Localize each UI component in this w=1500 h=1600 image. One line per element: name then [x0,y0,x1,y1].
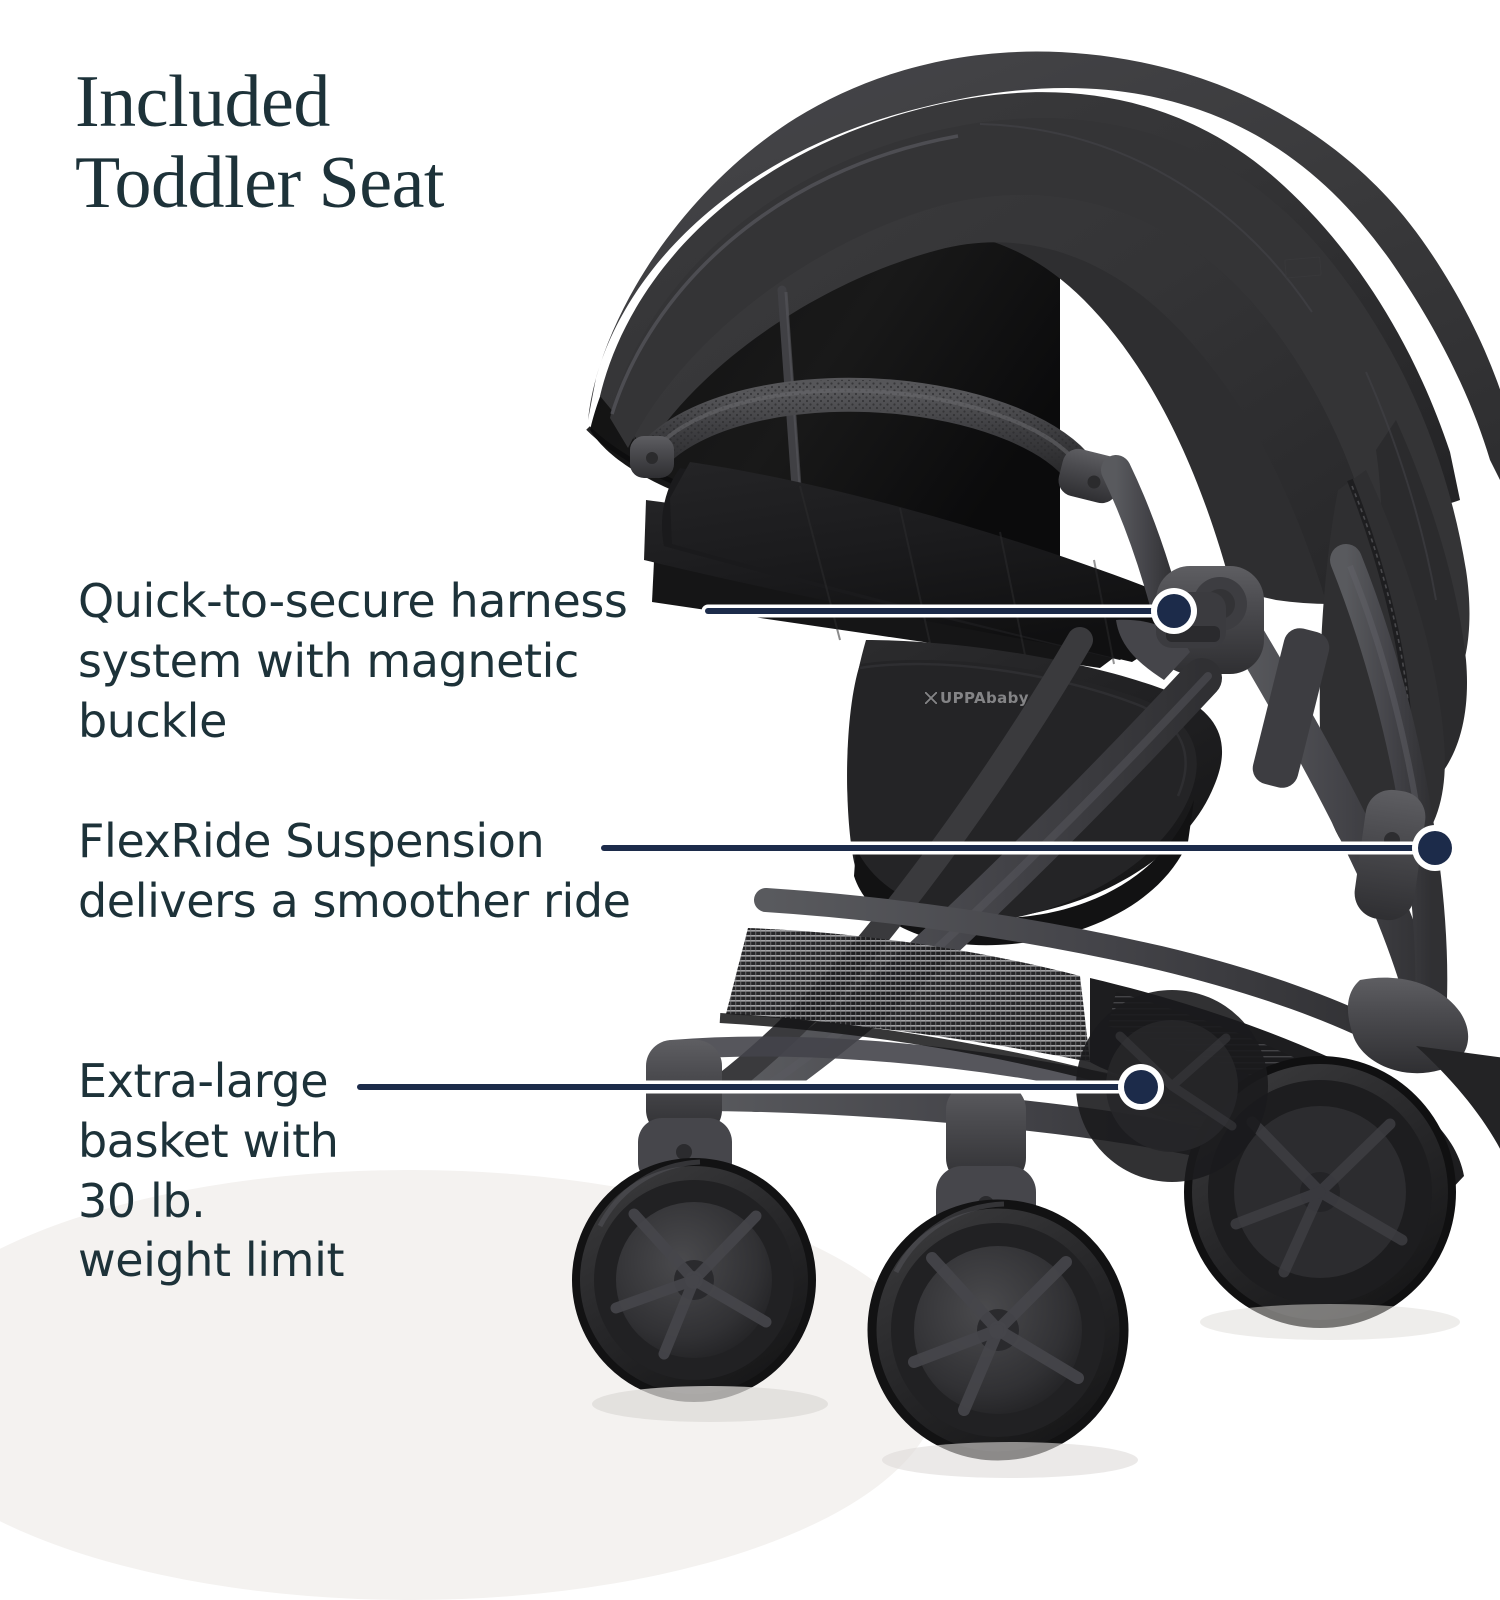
page-title: Included Toddler Seat [75,62,695,225]
uppababy-logo-icon [925,692,937,704]
infographic-canvas: UPPAbaby Included Toddler Seat Quick-to-… [0,0,1500,1500]
wheel-rear-far [1076,990,1268,1182]
callout-harness-label: Quick-to-secure harness system with magn… [78,572,718,751]
wheel-front-right [872,1082,1124,1456]
callout-basket-label: Extra-large basket with 30 lb. weight li… [78,1052,408,1291]
uppababy-wordmark-text: UPPAbaby [940,689,1029,707]
callout-suspension: FlexRide Suspension delivers a smoother … [78,812,638,932]
callout-basket: Extra-large basket with 30 lb. weight li… [78,1052,408,1291]
uppababy-wordmark: UPPAbaby [925,689,1029,707]
callout-suspension-label: FlexRide Suspension delivers a smoother … [78,812,638,932]
callout-harness: Quick-to-secure harness system with magn… [78,572,718,751]
canopy-brand-tag [1284,256,1322,278]
